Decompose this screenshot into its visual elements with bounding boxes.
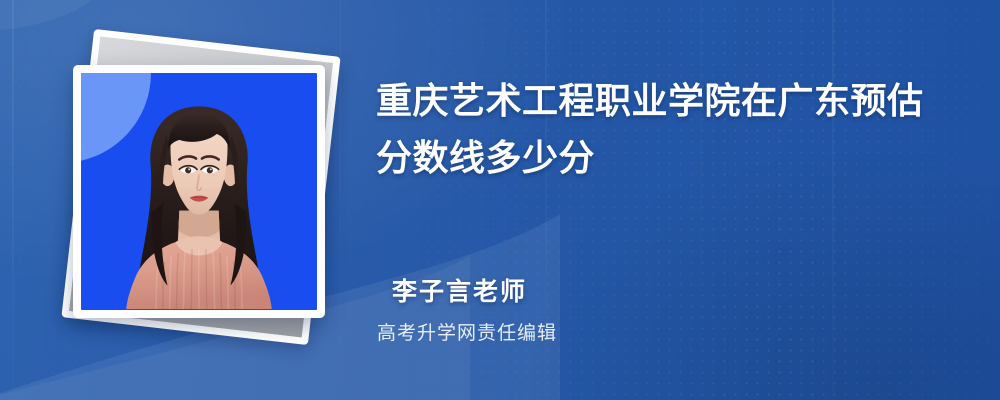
author-name: 李子言老师 bbox=[392, 272, 527, 308]
banner-text-column: 重庆艺术工程职业学院在广东预估分数线多少分 李子言老师 高考升学网责任编辑 bbox=[376, 0, 976, 400]
photo-card-stack bbox=[55, 42, 345, 352]
portrait-illustration bbox=[81, 73, 317, 309]
author-role: 高考升学网责任编辑 bbox=[377, 318, 557, 345]
photo-card-front bbox=[73, 65, 325, 318]
article-hero-banner: 重庆艺术工程职业学院在广东预估分数线多少分 李子言老师 高考升学网责任编辑 bbox=[0, 0, 1000, 400]
page-title: 重庆艺术工程职业学院在广东预估分数线多少分 bbox=[376, 72, 956, 186]
author-photo bbox=[81, 73, 317, 310]
